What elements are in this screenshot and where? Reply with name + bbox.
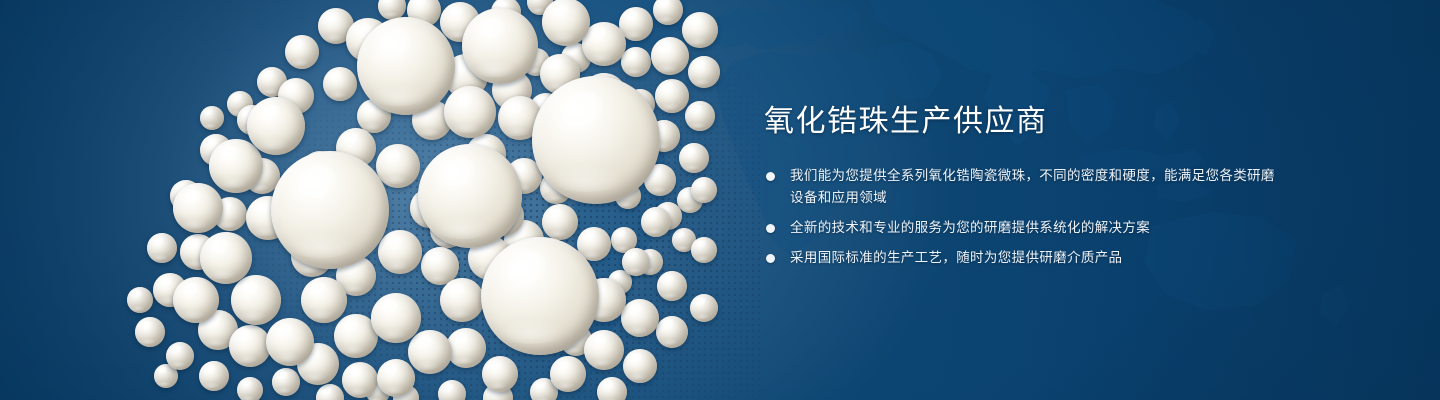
zirconia-bead xyxy=(231,275,281,325)
zirconia-bead xyxy=(237,377,263,400)
zirconia-bead xyxy=(166,342,194,370)
zirconia-bead xyxy=(641,207,671,237)
zirconia-bead xyxy=(173,277,219,323)
zirconia-bead xyxy=(621,47,651,77)
zirconia-bead xyxy=(656,316,688,348)
zirconia-bead xyxy=(623,349,657,383)
list-item: 采用国际标准的生产工艺，随时为您提供研磨介质产品 xyxy=(764,247,1284,269)
zirconia-bead xyxy=(655,79,689,113)
zirconia-bead xyxy=(127,287,153,313)
zirconia-bead xyxy=(482,356,518,392)
zirconia-bead xyxy=(357,17,455,115)
zirconia-bead xyxy=(376,144,420,188)
bullet-dot-icon xyxy=(766,172,775,181)
zirconia-bead xyxy=(597,377,627,400)
zirconia-bead xyxy=(272,368,300,396)
zirconia-bead xyxy=(651,37,689,75)
list-item: 我们能为您提供全系列氧化锆陶瓷微珠，不同的密度和硬度，能满足您各类研磨设备和应用… xyxy=(764,165,1284,209)
zirconia-bead xyxy=(688,56,720,88)
bullet-dot-icon xyxy=(766,224,775,233)
zirconia-bead xyxy=(377,359,415,397)
list-item-text: 我们能为您提供全系列氧化锆陶瓷微珠，不同的密度和硬度，能满足您各类研磨设备和应用… xyxy=(790,168,1275,205)
zirconia-bead xyxy=(266,318,314,366)
zirconia-bead xyxy=(550,356,586,392)
zirconia-bead xyxy=(679,143,709,173)
zirconia-bead xyxy=(271,151,389,269)
zirconia-bead xyxy=(135,317,165,347)
zirconia-bead xyxy=(323,67,357,101)
zirconia-bead xyxy=(418,144,522,248)
zirconia-bead xyxy=(542,0,590,46)
zirconia-bead xyxy=(301,277,347,323)
zirconia-bead xyxy=(199,361,229,391)
zirconia-bead xyxy=(682,12,718,48)
list-item-text: 采用国际标准的生产工艺，随时为您提供研磨介质产品 xyxy=(790,250,1122,265)
zirconia-bead xyxy=(371,293,421,343)
zirconia-bead xyxy=(440,278,484,322)
zirconia-bead xyxy=(481,237,599,355)
zirconia-bead xyxy=(200,232,252,284)
list-item: 全新的技术和专业的服务为您的研磨提供系统化的解决方案 xyxy=(764,217,1284,239)
zirconia-bead xyxy=(653,0,683,25)
page-title: 氧化锆珠生产供应商 xyxy=(764,104,1284,141)
zirconia-bead xyxy=(691,177,717,203)
zirconia-bead xyxy=(200,106,224,130)
hero-banner: 氧化锆珠生产供应商 我们能为您提供全系列氧化锆陶瓷微珠，不同的密度和硬度，能满足… xyxy=(0,0,1440,400)
zirconia-bead xyxy=(444,86,496,138)
zirconia-bead xyxy=(438,380,466,400)
zirconia-bead xyxy=(621,299,659,337)
bullet-dot-icon xyxy=(766,254,775,263)
zirconia-bead xyxy=(542,204,578,240)
list-item-text: 全新的技术和专业的服务为您的研磨提供系统化的解决方案 xyxy=(790,220,1150,235)
zirconia-bead xyxy=(446,328,486,368)
zirconia-bead xyxy=(209,139,263,193)
zirconia-bead xyxy=(584,330,624,370)
zirconia-bead xyxy=(342,362,378,398)
banner-content: 氧化锆珠生产供应商 我们能为您提供全系列氧化锆陶瓷微珠，不同的密度和硬度，能满足… xyxy=(764,104,1284,269)
zirconia-bead xyxy=(690,294,718,322)
zirconia-bead xyxy=(622,248,650,276)
zirconia-bead xyxy=(408,330,452,374)
zirconia-bead xyxy=(285,35,319,69)
zirconia-bead xyxy=(657,271,687,301)
zirconia-bead xyxy=(316,384,344,400)
feature-list: 我们能为您提供全系列氧化锆陶瓷微珠，不同的密度和硬度，能满足您各类研磨设备和应用… xyxy=(764,165,1284,269)
zirconia-bead xyxy=(229,325,271,367)
zirconia-bead xyxy=(247,97,305,155)
zirconia-bead xyxy=(147,233,177,263)
zirconia-bead xyxy=(378,230,422,274)
zirconia-bead xyxy=(173,183,223,233)
zirconia-bead xyxy=(691,237,717,263)
zirconia-bead xyxy=(462,8,538,84)
zirconia-bead-cluster xyxy=(0,0,760,400)
zirconia-bead xyxy=(532,76,660,204)
zirconia-bead xyxy=(685,101,715,131)
